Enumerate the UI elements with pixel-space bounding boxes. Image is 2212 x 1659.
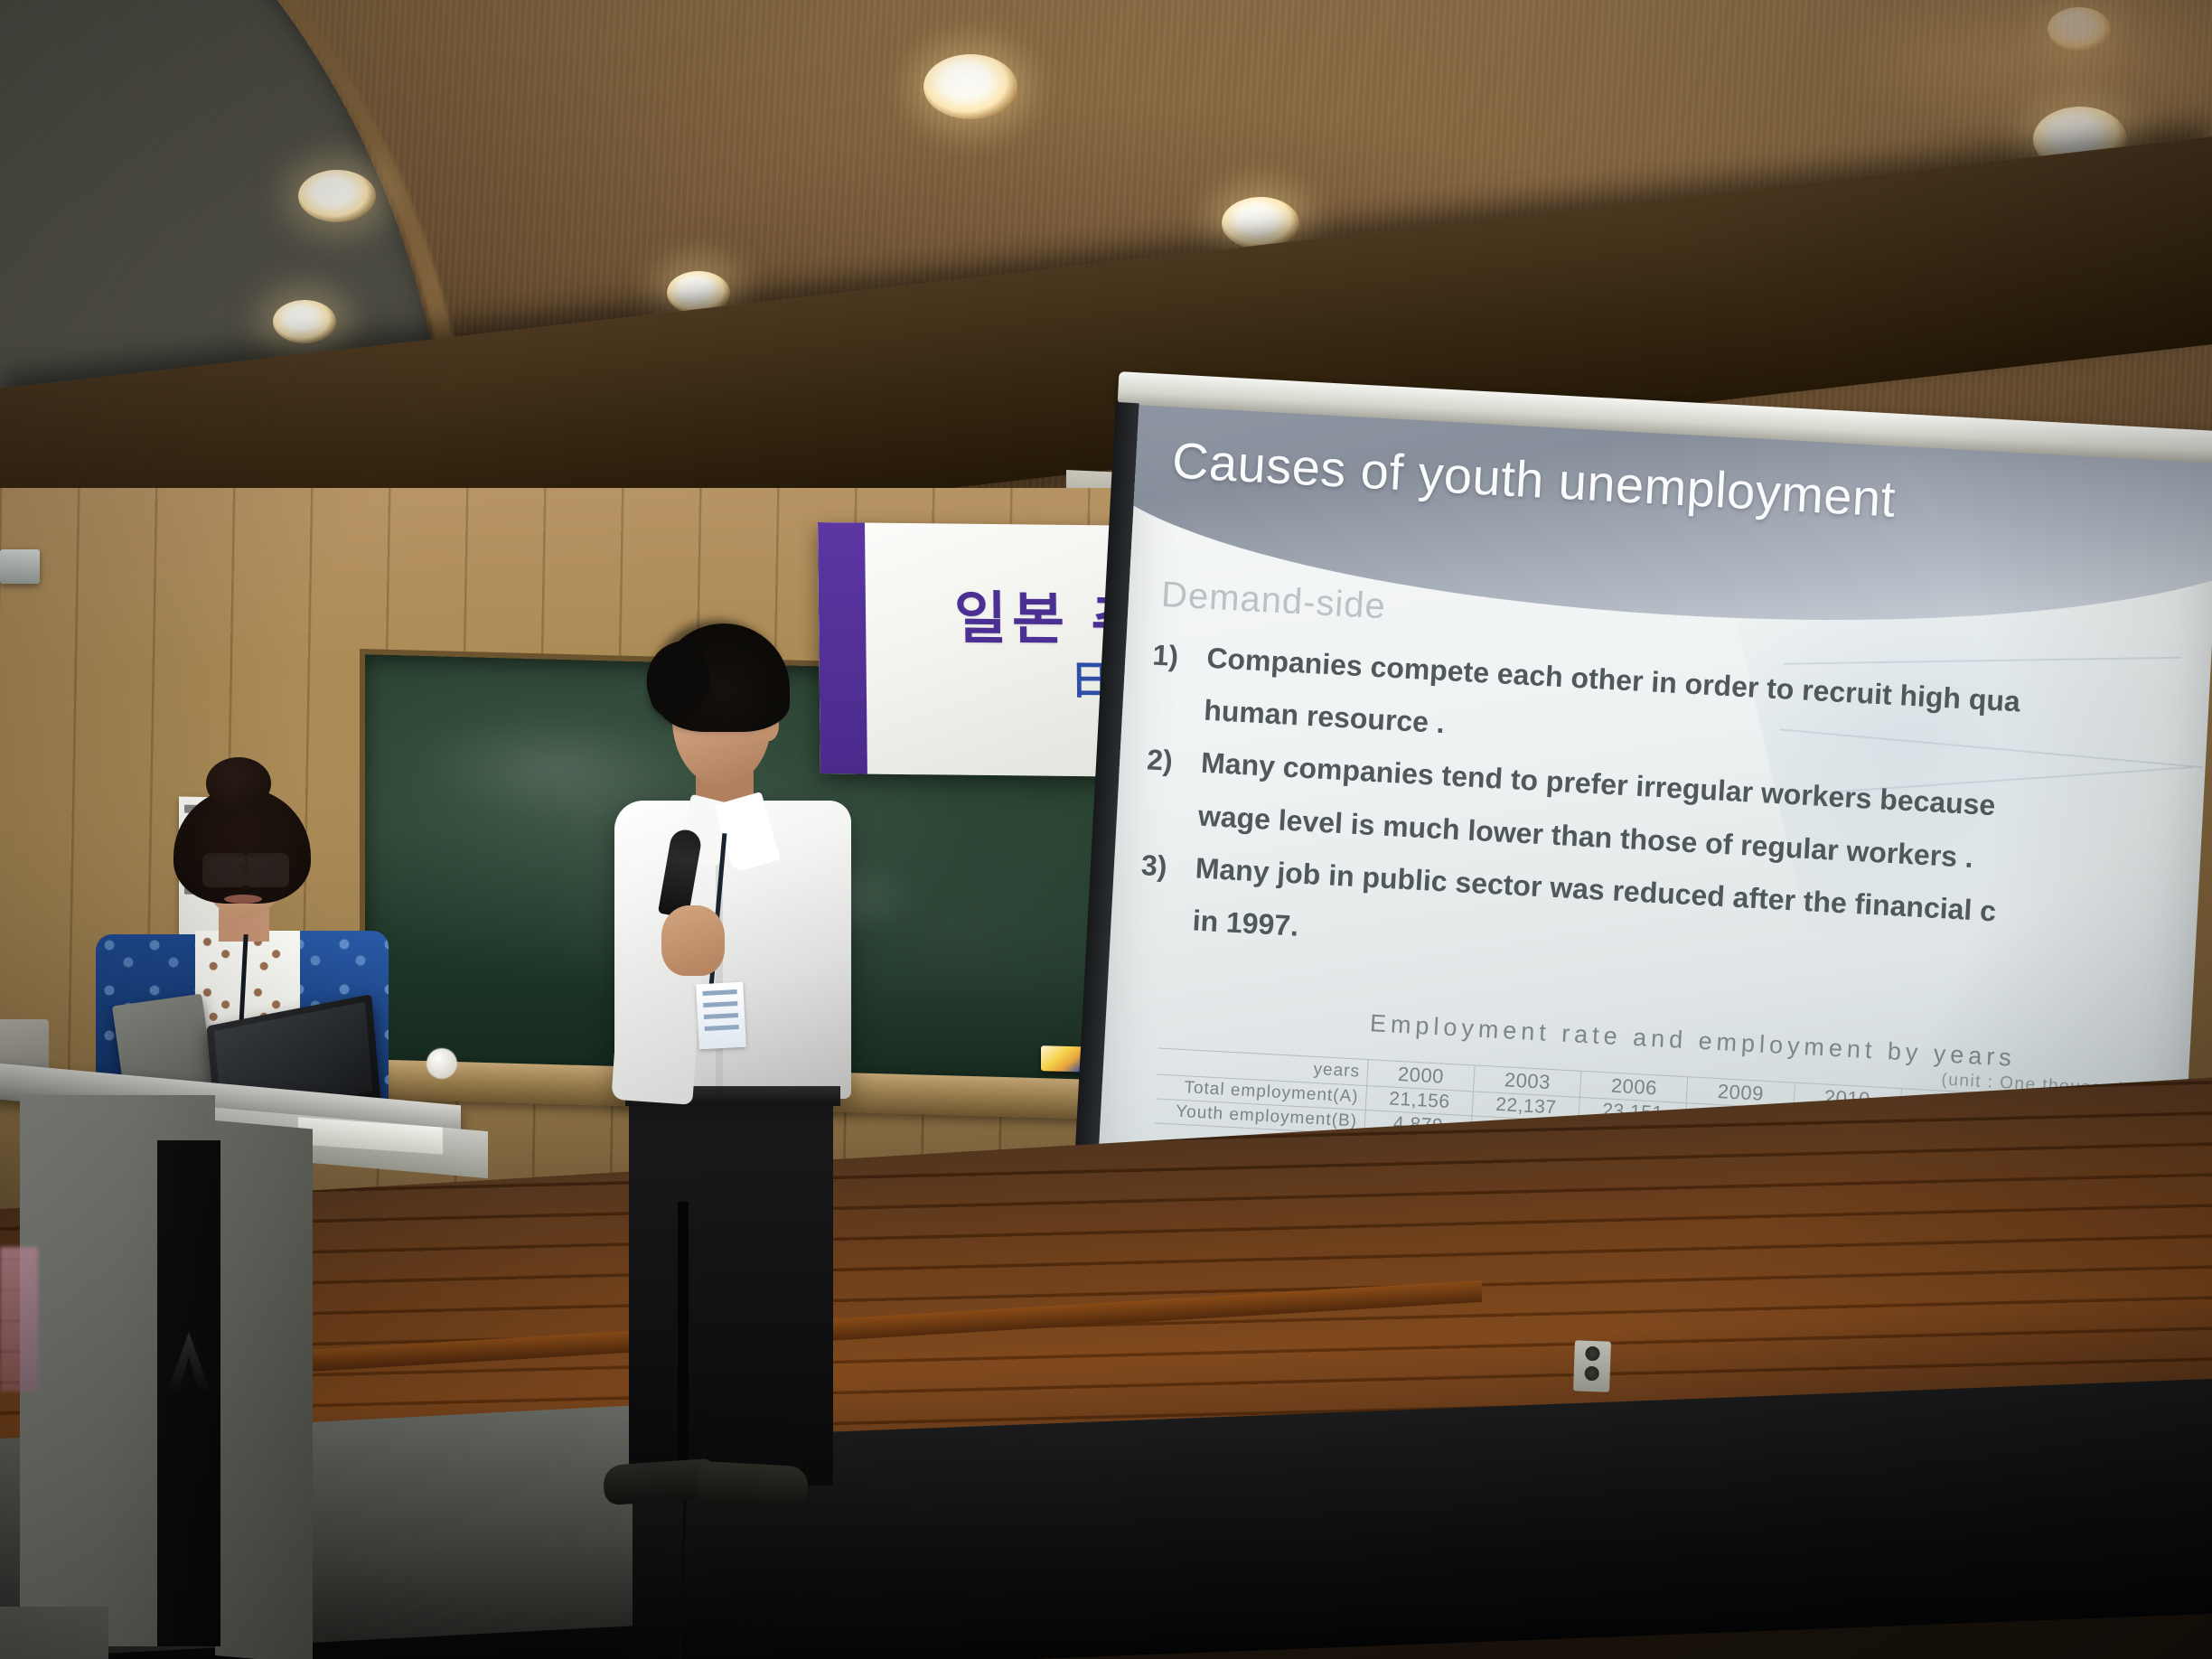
eyeglasses-lens-right <box>244 853 289 887</box>
ceiling-downlight <box>298 170 376 222</box>
slide-bullet-list: 1)Companies compete each other in order … <box>1137 629 2212 1002</box>
badge-line <box>703 989 737 996</box>
presenter-trousers <box>629 1097 833 1486</box>
badge-line <box>704 1013 738 1019</box>
lectern-base <box>0 1607 108 1659</box>
lectern-body-right <box>215 1120 313 1659</box>
wall-fixture <box>0 549 40 584</box>
outlet-socket <box>1585 1346 1600 1362</box>
badge-line <box>705 1025 739 1031</box>
eyeglasses-bridge <box>239 864 248 867</box>
ceiling-downlight <box>923 54 1017 119</box>
lens-flare <box>1825 0 2212 145</box>
power-outlet <box>1573 1340 1611 1392</box>
lectern <box>0 1046 488 1659</box>
watermark-line <box>1784 657 2181 665</box>
bullet-number: 1) <box>1151 629 1194 684</box>
outlet-socket <box>1584 1366 1599 1382</box>
bullet-text-cont: in 1997. <box>1137 891 1299 952</box>
badge-line <box>703 1001 737 1008</box>
presenter-shoe-right <box>697 1461 809 1508</box>
presenter-hand <box>661 905 725 976</box>
trouser-seam <box>678 1202 689 1487</box>
presenter-mouth <box>224 895 262 904</box>
hair-bun <box>206 757 271 810</box>
eyeglasses-lens-left <box>202 853 248 887</box>
name-badge <box>696 982 746 1050</box>
bullet-number: 3) <box>1139 839 1182 894</box>
ceiling-downlight <box>273 300 336 343</box>
standing-presenter <box>578 623 904 1238</box>
lecture-hall-photo: 일본 츄오 日本 中 Causes of youth unemployment … <box>0 0 2212 1659</box>
bullet-number: 2) <box>1146 734 1188 789</box>
floor-bag <box>0 1247 38 1392</box>
slide-subtitle: Demand-side <box>1160 575 1387 627</box>
lectern-dark-stripe <box>157 1140 220 1646</box>
